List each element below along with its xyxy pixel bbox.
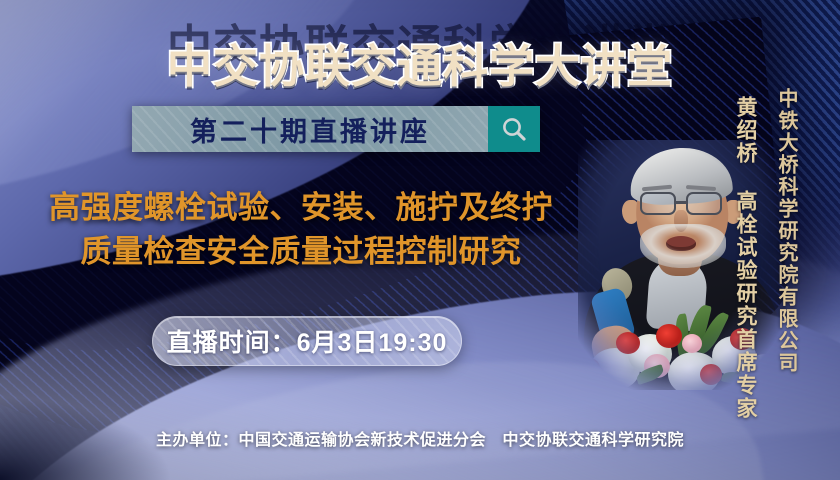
lecture-headline: 高强度螺栓试验、安装、施拧及终拧 质量检查安全质量过程控制研究	[8, 186, 594, 274]
organizers-footer: 主办单位：中国交通运输协会新技术促进分会 中交协联交通科学研究院	[0, 426, 840, 450]
photo-flower-bouquet	[578, 318, 793, 390]
poster-title-wrap: 中交协联交通科学大讲堂 中交协联交通科学大讲堂	[0, 22, 840, 76]
speaker-photo	[578, 140, 793, 390]
poster-title: 中交协联交通科学大讲堂	[0, 44, 840, 89]
live-stream-poster: 中交协联交通科学大讲堂 中交协联交通科学大讲堂 第二十期直播讲座 高强度螺栓试验…	[0, 0, 840, 480]
episode-bar-body: 第二十期直播讲座	[132, 106, 488, 152]
photo-beard	[640, 224, 726, 268]
broadcast-time-text: 直播时间：6月3日19:30	[167, 323, 448, 359]
background-dark-bottom-left	[0, 365, 319, 480]
speaker-name-vertical: 黄绍桥 高栓试验研究首席专家	[730, 96, 760, 420]
episode-bar[interactable]: 第二十期直播讲座	[132, 106, 540, 152]
speaker-organization-vertical: 中铁大桥科学研究院有限公司	[772, 88, 801, 374]
lecture-headline-line-2: 质量检查安全质量过程控制研究	[8, 230, 594, 274]
search-icon[interactable]	[488, 106, 540, 152]
broadcast-time-badge: 直播时间：6月3日19:30	[152, 316, 462, 366]
lecture-headline-line-1: 高强度螺栓试验、安装、施拧及终拧	[8, 186, 594, 230]
episode-label: 第二十期直播讲座	[190, 110, 430, 149]
